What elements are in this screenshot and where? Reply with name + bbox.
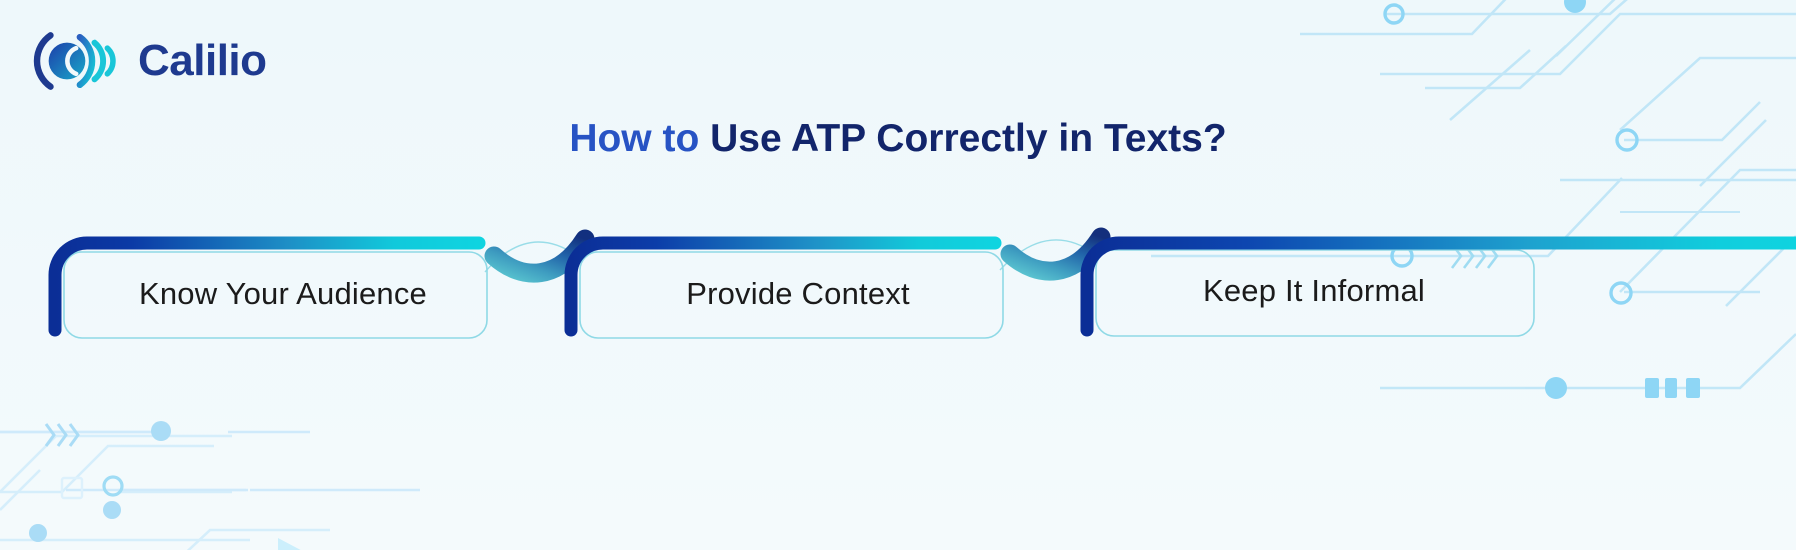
flow-step-label-2: Provide Context [588, 276, 1008, 312]
flow-step-label-1: Know Your Audience [73, 276, 493, 312]
flow-step-label-3: Keep It Informal [1104, 273, 1524, 309]
flow-diagram [0, 0, 1796, 550]
infographic-canvas: Calilio How to Use ATP Correctly in Text… [0, 0, 1796, 550]
